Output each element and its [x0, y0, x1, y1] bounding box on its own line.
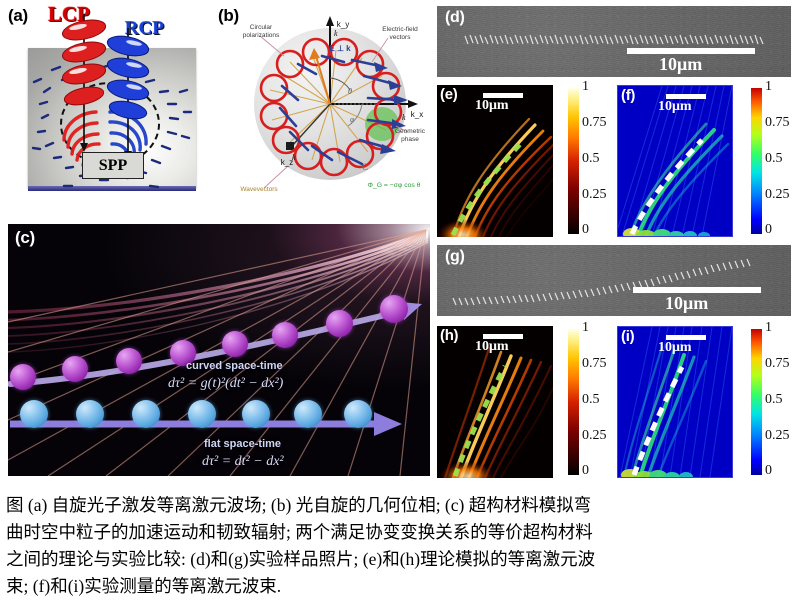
colorbar-e	[568, 88, 579, 234]
panel-g-label: (g)	[445, 248, 465, 266]
tick: 0.75	[582, 356, 607, 372]
panel-h-label: (h)	[440, 327, 458, 344]
panel-f: (f) 10μm	[617, 85, 733, 237]
curved-particle	[10, 364, 36, 390]
panel-b-label: (b)	[218, 6, 239, 26]
tick: 0.75	[582, 115, 607, 131]
panel-e-label: (e)	[440, 86, 457, 103]
figure-root: (a) LCP RCP	[0, 0, 800, 600]
flat-particle	[294, 400, 322, 428]
tick: 0.75	[765, 115, 790, 131]
tick: 0	[765, 463, 772, 479]
kz-axis-label: k_z	[278, 158, 296, 168]
caption-line-1: 图 (a) 自旋光子激发等离激元波场; (b) 光自旋的几何位相; (c) 超构…	[6, 492, 794, 519]
caption-line-2: 曲时空中粒子的加速运动和韧致辐射; 两个满足协变变换关系的等价超构材料	[6, 519, 794, 546]
panel-e: (e) 10μm	[437, 85, 553, 237]
flat-particle	[242, 400, 270, 428]
svg-text:θ: θ	[348, 87, 352, 96]
orthogonality-label: E ⊥ k	[318, 44, 362, 54]
flat-particle	[188, 400, 216, 428]
electric-field-vectors-label: Electric-field vectors	[372, 26, 428, 42]
tick: 0.25	[765, 187, 790, 203]
svg-text:k: k	[402, 113, 406, 122]
panel-c-label: (c)	[15, 228, 35, 248]
tick: 1	[582, 79, 589, 95]
scalebar-text-f: 10μm	[658, 99, 692, 115]
tick: 1	[765, 320, 772, 336]
panel-i-label: (i)	[621, 328, 634, 345]
nanoslit-array-curved	[437, 245, 791, 316]
flat-particle	[132, 400, 160, 428]
caption-line-3: 之间的理论与实验比较: (d)和(g)实验样品照片; (e)和(h)理论模拟的等…	[6, 546, 794, 573]
tick: 0.25	[582, 428, 607, 444]
panel-a: (a) LCP RCP	[0, 0, 215, 222]
panel-f-label: (f)	[621, 87, 635, 104]
svg-text:φ: φ	[350, 115, 355, 124]
curved-particle	[116, 348, 142, 374]
svg-text:k: k	[334, 29, 338, 38]
panel-h: (h) 10μm	[437, 326, 553, 478]
flat-particle	[76, 400, 104, 428]
tick: 0	[582, 222, 589, 238]
figure-caption: 图 (a) 自旋光子激发等离激元波场; (b) 光自旋的几何位相; (c) 超构…	[0, 486, 800, 600]
curved-particle	[380, 295, 408, 323]
caption-line-4: 束; (f)和(i)实验测量的等离激元波束.	[6, 573, 794, 600]
tick: 0.5	[765, 151, 783, 167]
curved-particle	[62, 356, 88, 382]
panel-g: (g)	[437, 245, 791, 316]
panel-d: (d)	[437, 6, 791, 77]
scalebar-text-e: 10μm	[475, 98, 509, 114]
scalebar-text-g: 10μm	[665, 293, 708, 314]
flat-particle	[20, 400, 48, 428]
tick: 0.5	[582, 151, 600, 167]
kx-axis-label: k_x	[408, 110, 426, 120]
geometric-phase-label: Geometric phase	[390, 128, 430, 144]
wavevectors-label: Wavevectors	[224, 186, 294, 194]
panel-i: (i) 10μm	[617, 326, 733, 478]
tick: 1	[582, 320, 589, 336]
tick: 0.25	[765, 428, 790, 444]
spp-label-box: SPP	[82, 152, 144, 179]
curved-spacetime-label: curved space-time	[186, 360, 283, 372]
nanoslit-array-straight	[437, 6, 791, 77]
tick: 0	[765, 222, 772, 238]
flat-spacetime-equation: dτ² = dt² − dx²	[202, 454, 284, 470]
scalebar-text-i: 10μm	[658, 340, 692, 356]
panel-b: (b)	[212, 0, 430, 222]
geometric-phase-formula: Φ_G = −σφ cos θ	[358, 182, 430, 190]
svg-text:C: C	[362, 162, 368, 172]
curved-particle	[272, 322, 298, 348]
flat-spacetime-label: flat space-time	[204, 438, 281, 450]
flat-particle	[344, 400, 372, 428]
panel-a-label: (a)	[8, 6, 28, 26]
tick: 1	[765, 79, 772, 95]
tick: 0.25	[582, 187, 607, 203]
curved-spacetime-equation: dτ² = g(t)²(dt² − dx²)	[168, 376, 283, 392]
panel-d-label: (d)	[445, 9, 465, 27]
curved-particle	[326, 310, 353, 337]
ky-axis-label: k_y	[334, 20, 352, 30]
panel-c: (c)	[8, 224, 430, 476]
circular-polarizations-label: Circular polarizations	[230, 24, 292, 40]
scalebar-text-d: 10μm	[659, 54, 702, 75]
tick: 0	[582, 463, 589, 479]
colorbar-f	[751, 88, 762, 234]
colorbar-h	[568, 329, 579, 475]
scalebar-text-h: 10μm	[475, 339, 509, 355]
rcp-helix-icon	[0, 0, 215, 222]
tick: 0.75	[765, 356, 790, 372]
tick: 0.5	[582, 392, 600, 408]
colorbar-i	[751, 329, 762, 475]
tick: 0.5	[765, 392, 783, 408]
curved-particle	[222, 331, 248, 357]
